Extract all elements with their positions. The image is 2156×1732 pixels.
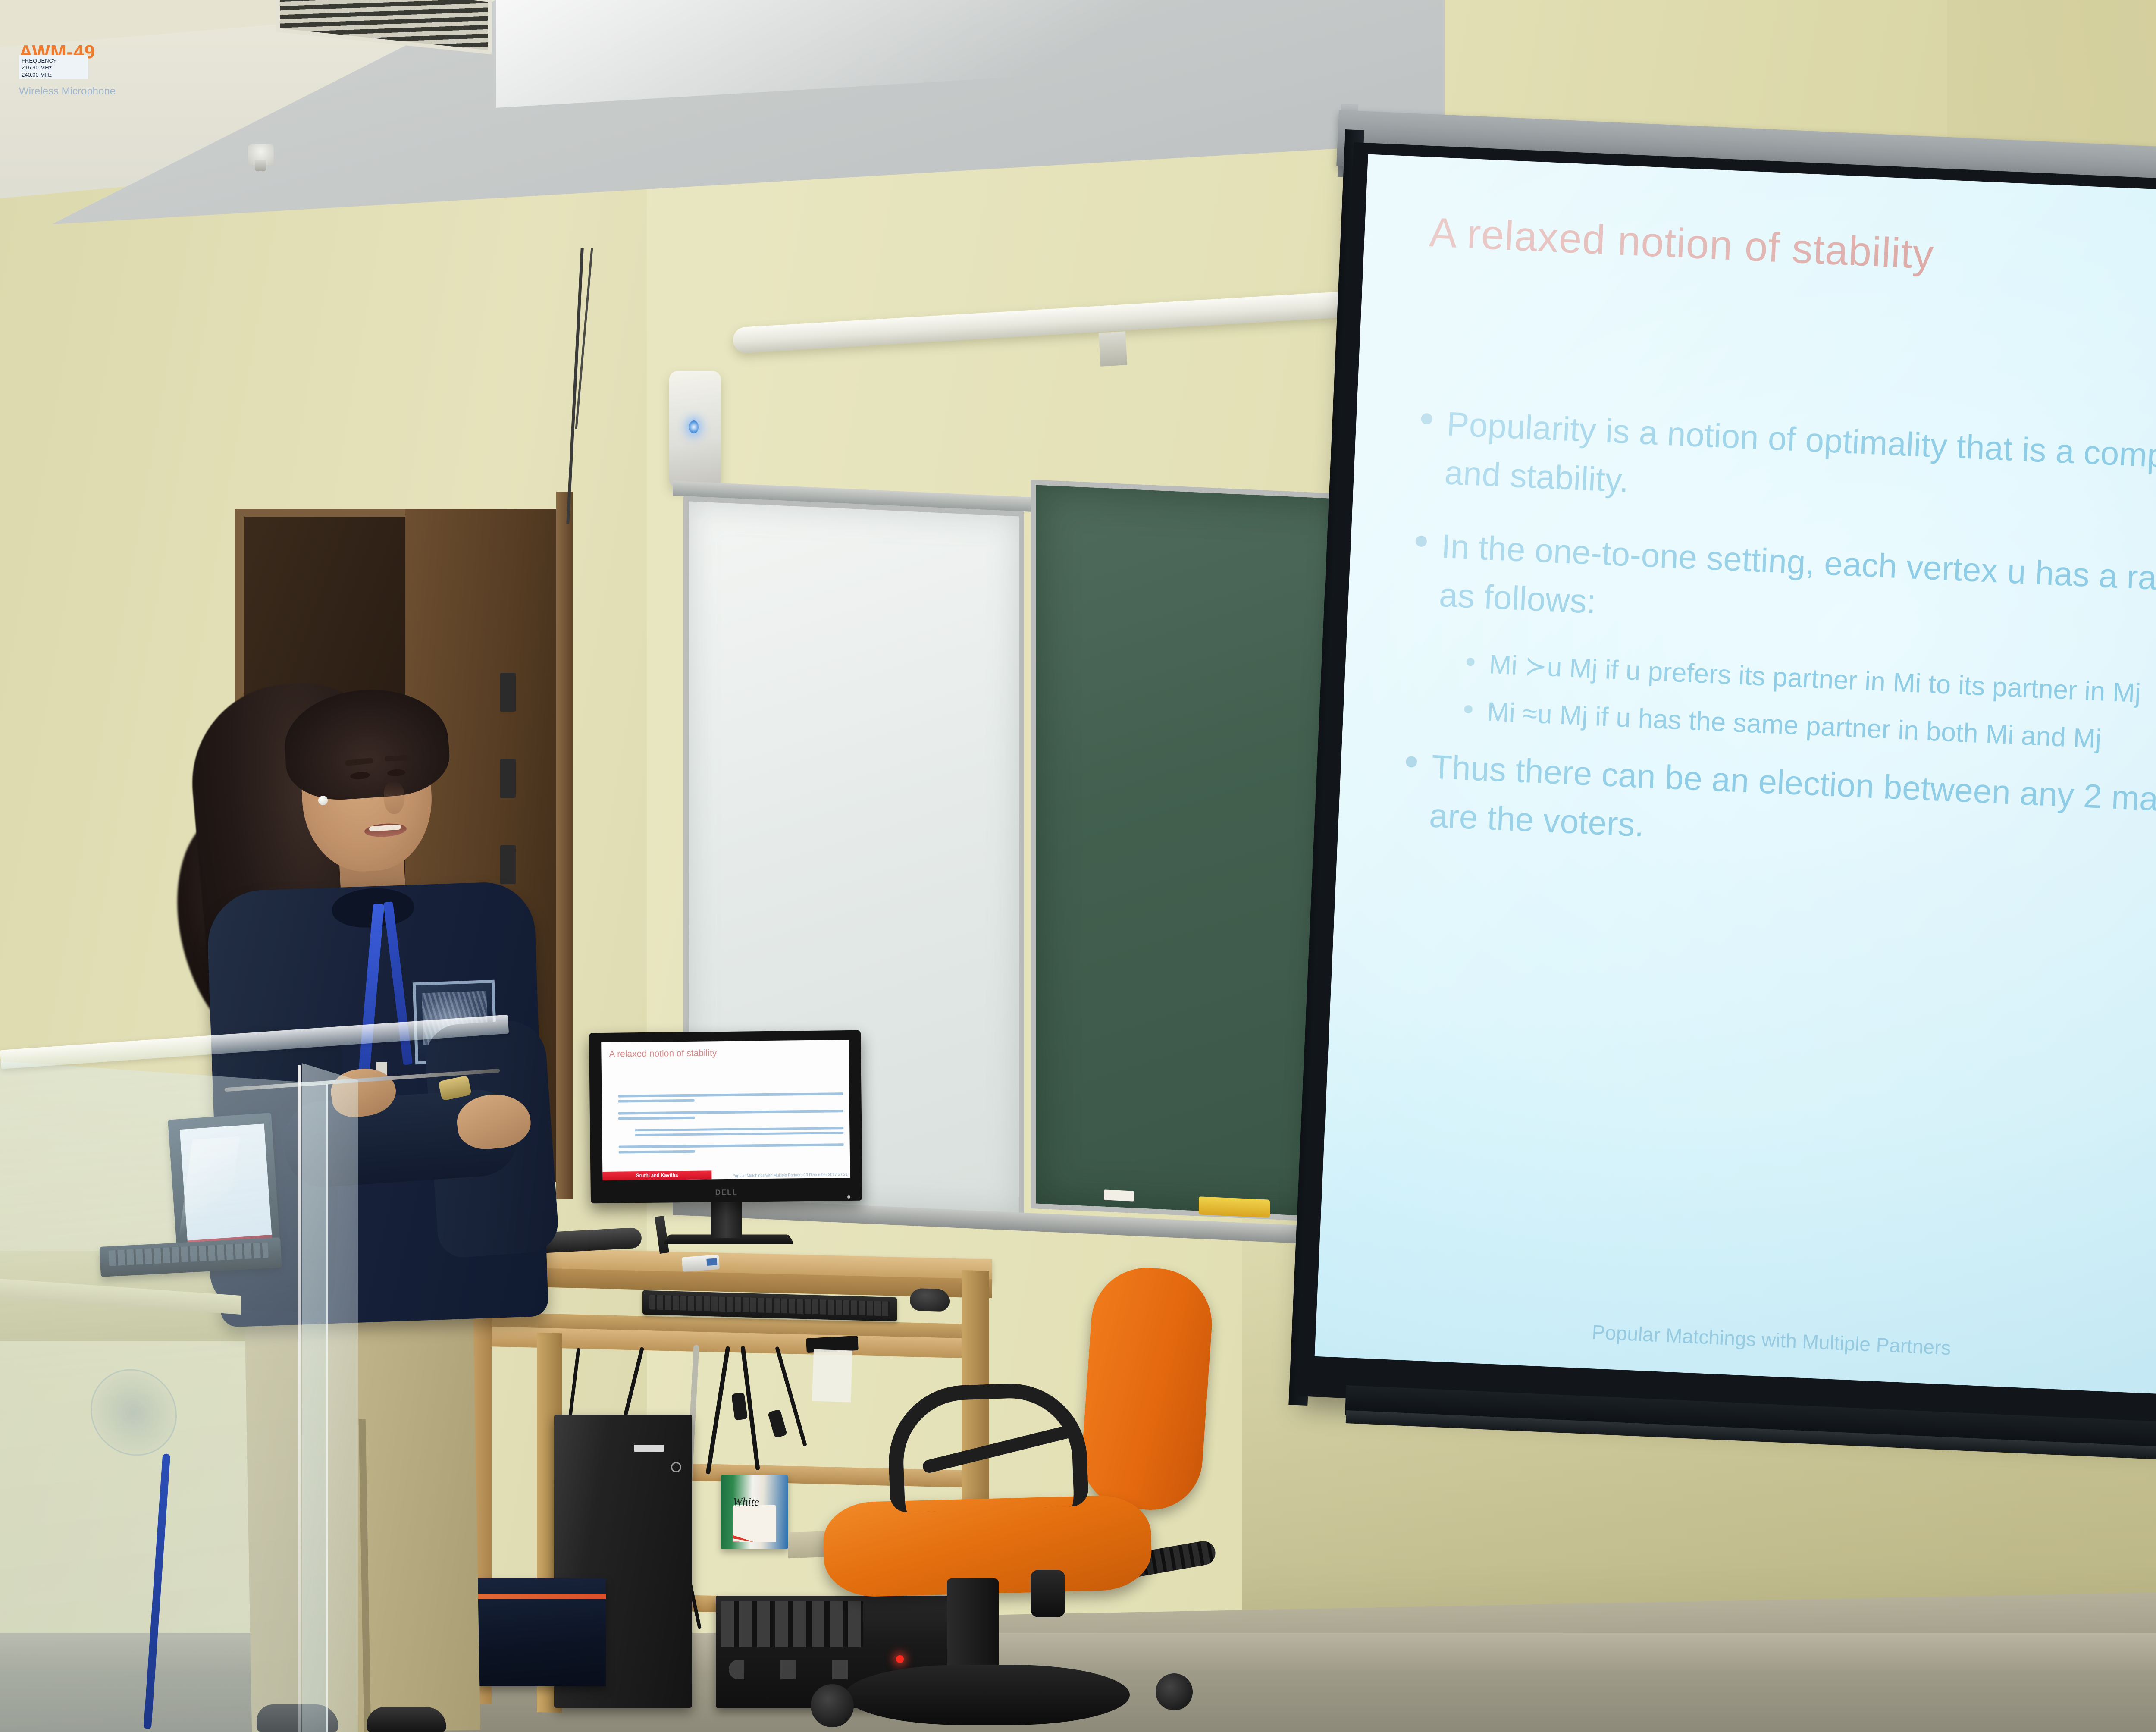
slide-bullet-list: Popularity is a notion of optimality tha… bbox=[1402, 398, 2156, 888]
chair-backrest[interactable] bbox=[1078, 1264, 1216, 1513]
speaker-power-led bbox=[689, 420, 699, 433]
frequency-label-line-1: 216.90 MHz bbox=[22, 64, 85, 71]
mouse[interactable] bbox=[910, 1288, 950, 1312]
frequency-label: FREQUENCY 216.90 MHz 240.00 MHz bbox=[19, 55, 88, 79]
slide-title: A relaxed notion of stability bbox=[1428, 209, 2156, 306]
monitor-text-line bbox=[618, 1092, 843, 1097]
frequency-label-line-2: 240.00 MHz bbox=[22, 72, 85, 78]
bullet-dot-icon bbox=[1464, 705, 1473, 714]
slide-footer-spacer bbox=[1977, 1356, 2156, 1368]
monitor-slide-body bbox=[618, 1092, 843, 1156]
chair-caster-icon bbox=[811, 1684, 854, 1727]
power-button-icon[interactable] bbox=[671, 1462, 681, 1472]
monitor-stand-neck bbox=[711, 1198, 742, 1238]
monitor-footer-right: Popular Matchings with Multiple Partners… bbox=[732, 1172, 847, 1178]
slide-footer: Popular Matchings with Multiple Partners… bbox=[1316, 1308, 2156, 1386]
projected-slide: A relaxed notion of stability Popularity… bbox=[1315, 154, 2156, 1411]
chair-base bbox=[845, 1665, 1130, 1725]
lecture-room-photo: A relaxed notion of stability Popularity… bbox=[0, 0, 2156, 1732]
presenter-earring bbox=[318, 796, 328, 805]
mic-box-line-3: Wireless Microphone bbox=[19, 85, 116, 97]
tissue-box-brand: White bbox=[733, 1496, 780, 1509]
projection-screen[interactable]: A relaxed notion of stability Popularity… bbox=[1298, 142, 2156, 1452]
bullet-text: Popularity is a notion of optimality tha… bbox=[1444, 399, 2156, 544]
slide-footer-title: Popular Matchings with Multiple Partners bbox=[1592, 1320, 1952, 1359]
presenter-shoe bbox=[367, 1707, 446, 1732]
door-hinge-icon bbox=[500, 845, 516, 884]
monitor-text-line bbox=[618, 1117, 695, 1120]
monitor-text-line bbox=[618, 1099, 695, 1103]
amplifier-knobs[interactable] bbox=[729, 1660, 884, 1679]
monitor-screen: A relaxed notion of stability Sruthi and… bbox=[601, 1040, 850, 1180]
bullet-dot-icon bbox=[1406, 756, 1417, 768]
bullet-text: In the one-to-one setting, each vertex u… bbox=[1438, 522, 2156, 667]
bullet-item: In the one-to-one setting, each vertex u… bbox=[1412, 521, 2156, 668]
monitor-power-led[interactable] bbox=[847, 1195, 850, 1199]
tissue-box-sunburst-icon bbox=[733, 1505, 776, 1542]
vga-adapter[interactable] bbox=[682, 1255, 720, 1272]
amplifier-slots bbox=[721, 1601, 863, 1647]
desktop-monitor[interactable]: A relaxed notion of stability Sruthi and… bbox=[589, 1030, 862, 1204]
frequency-label-title: FREQUENCY bbox=[22, 57, 85, 64]
chair-gas-column bbox=[947, 1578, 999, 1673]
monitor-slide-title: A relaxed notion of stability bbox=[609, 1048, 717, 1060]
presenter-nose bbox=[384, 781, 404, 814]
slide-content: A relaxed notion of stability Popularity… bbox=[1315, 154, 2156, 1411]
door-hinge-icon bbox=[500, 759, 516, 798]
chalk-piece[interactable] bbox=[1104, 1189, 1134, 1201]
monitor-brand-logo: DELL bbox=[591, 1187, 862, 1199]
podium-side-panel bbox=[302, 1063, 358, 1732]
amplifier-power-led bbox=[896, 1655, 904, 1663]
bullet-dot-icon bbox=[1466, 658, 1475, 666]
pc-brand-badge bbox=[634, 1445, 664, 1452]
board-duster[interactable] bbox=[1199, 1196, 1270, 1217]
podium-edge bbox=[298, 1065, 301, 1732]
bullet-item: Thus there can be an election between an… bbox=[1402, 741, 2156, 888]
paper-note bbox=[812, 1349, 852, 1402]
bullet-dot-icon bbox=[1415, 535, 1427, 547]
sprinkler-icon bbox=[248, 144, 274, 165]
mic-box-secondary bbox=[476, 1578, 606, 1686]
bullet-text: Thus there can be an election between an… bbox=[1428, 742, 2156, 887]
door-frame bbox=[556, 492, 573, 1199]
monitor-author-text: Sruthi and Kavitha bbox=[636, 1173, 678, 1178]
monitor-text-line bbox=[635, 1132, 843, 1136]
door-hinge-icon bbox=[500, 673, 516, 712]
monitor-text-line bbox=[619, 1150, 696, 1154]
tube-light-clip bbox=[1099, 331, 1128, 367]
mic-box-orange-strip bbox=[476, 1594, 606, 1599]
bullet-dot-icon bbox=[1421, 413, 1432, 425]
monitor-author-band: Sruthi and Kavitha bbox=[602, 1170, 711, 1180]
chair-height-knob[interactable] bbox=[1031, 1570, 1065, 1617]
bullet-item: Popularity is a notion of optimality tha… bbox=[1418, 398, 2156, 546]
